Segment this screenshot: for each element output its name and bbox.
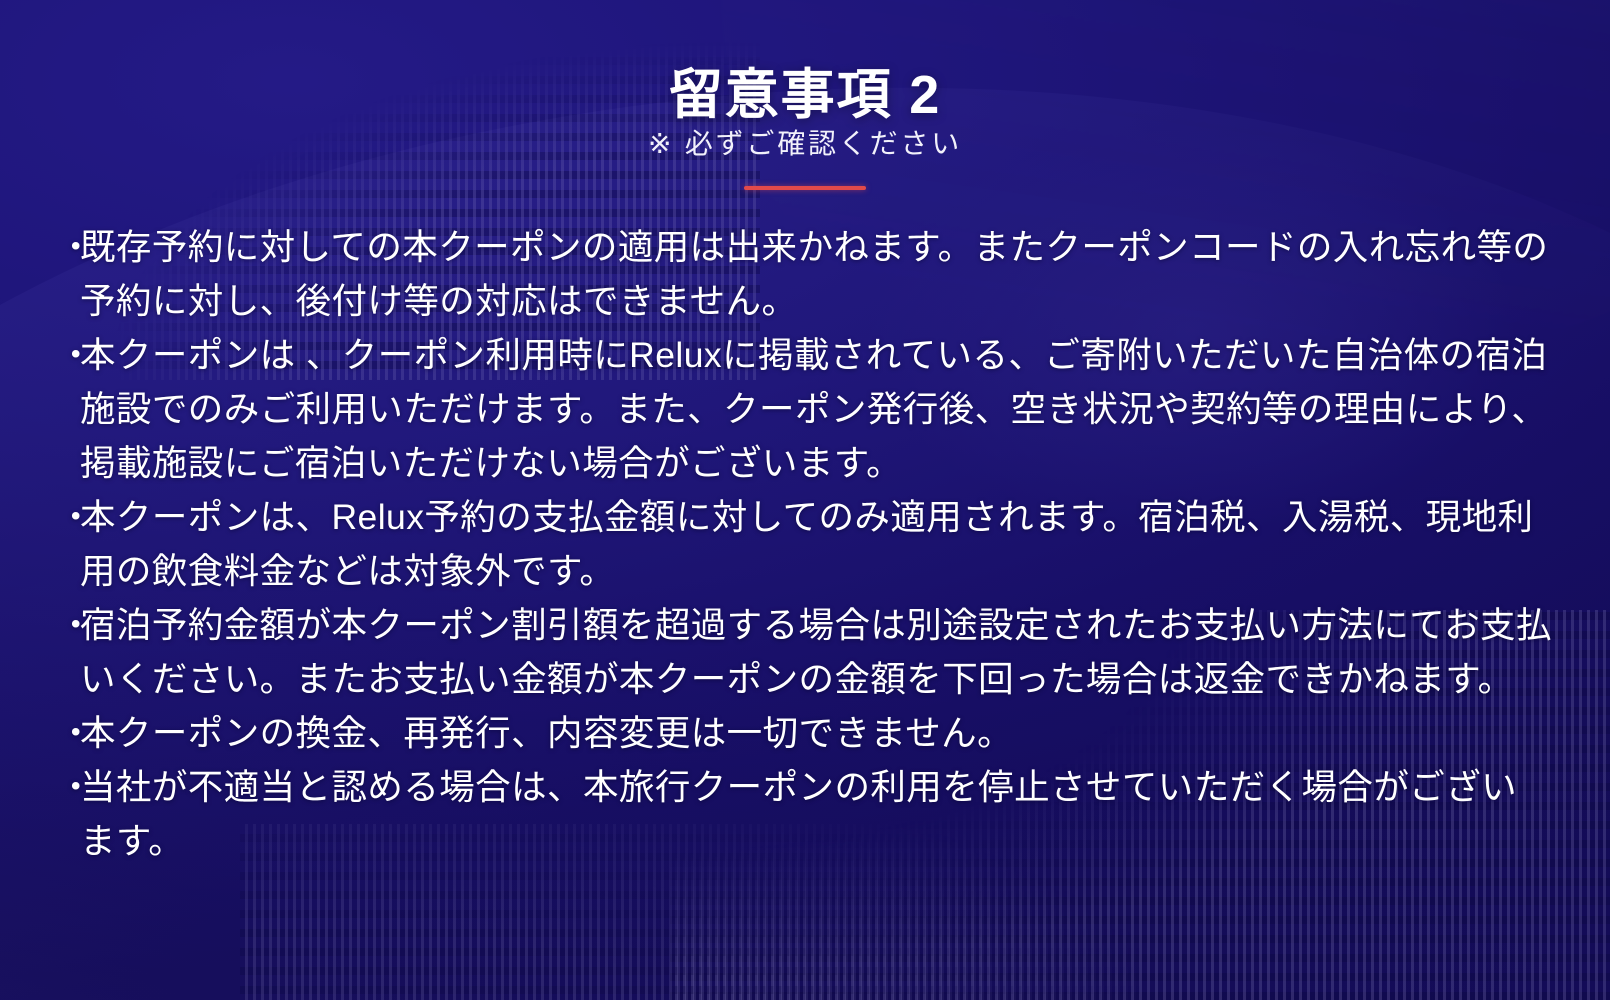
- slide-root: 留意事項 2 ※ 必ずご確認ください ・既存予約に対しての本クーポンの適用は出来…: [0, 0, 1610, 1000]
- list-item-text: 既存予約に対しての本クーポンの適用は出来かねます。またクーポンコードの入れ忘れ等…: [80, 220, 1552, 328]
- notes-list: ・既存予約に対しての本クーポンの適用は出来かねます。またクーポンコードの入れ忘れ…: [58, 220, 1552, 868]
- page-subtitle: ※ 必ずご確認ください: [0, 122, 1610, 162]
- bullet-icon: ・: [58, 490, 80, 544]
- list-item: ・宿泊予約金額が本クーポン割引額を超過する場合は別途設定されたお支払い方法にてお…: [58, 598, 1552, 706]
- list-item-text: 本クーポンの換金、再発行、内容変更は一切できません。: [80, 706, 1552, 760]
- page-title: 留意事項 2: [0, 66, 1610, 125]
- bullet-icon: ・: [58, 328, 80, 382]
- list-item: ・本クーポンの換金、再発行、内容変更は一切できません。: [58, 706, 1552, 760]
- list-item-text: 本クーポンは 、クーポン利用時にReluxに掲載されている、ご寄附いただいた自治…: [80, 328, 1552, 490]
- list-item: ・既存予約に対しての本クーポンの適用は出来かねます。またクーポンコードの入れ忘れ…: [58, 220, 1552, 328]
- title-divider: [744, 186, 866, 190]
- list-item: ・本クーポンは、Relux予約の支払金額に対してのみ適用されます。宿泊税、入湯税…: [58, 490, 1552, 598]
- list-item: ・本クーポンは 、クーポン利用時にReluxに掲載されている、ご寄附いただいた自…: [58, 328, 1552, 490]
- bullet-icon: ・: [58, 706, 80, 760]
- list-item: ・当社が不適当と認める場合は、本旅行クーポンの利用を停止させていただく場合がござ…: [58, 760, 1552, 868]
- bullet-icon: ・: [58, 760, 80, 814]
- list-item-text: 宿泊予約金額が本クーポン割引額を超過する場合は別途設定されたお支払い方法にてお支…: [80, 598, 1552, 706]
- list-item-text: 本クーポンは、Relux予約の支払金額に対してのみ適用されます。宿泊税、入湯税、…: [80, 490, 1552, 598]
- bullet-icon: ・: [58, 598, 80, 652]
- list-item-text: 当社が不適当と認める場合は、本旅行クーポンの利用を停止させていただく場合がござい…: [80, 760, 1552, 868]
- bullet-icon: ・: [58, 220, 80, 274]
- slide-content: 留意事項 2 ※ 必ずご確認ください ・既存予約に対しての本クーポンの適用は出来…: [0, 0, 1610, 1000]
